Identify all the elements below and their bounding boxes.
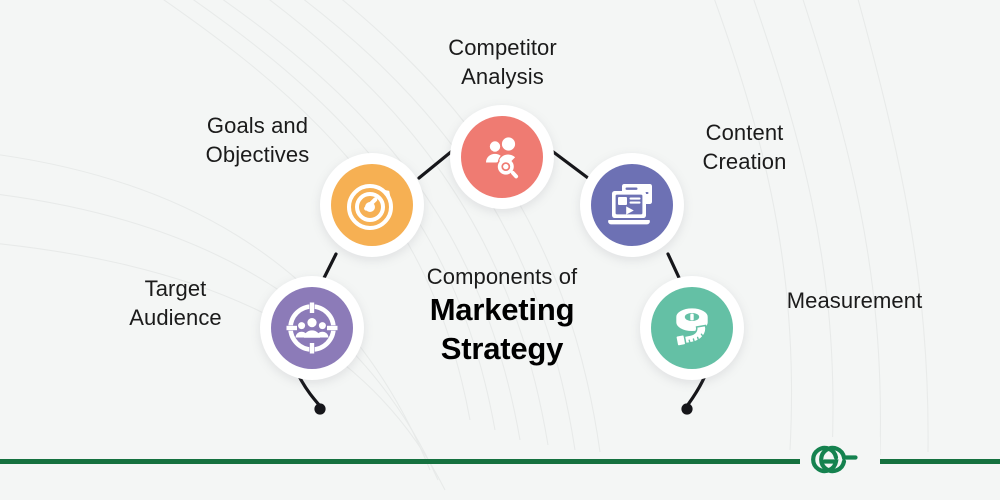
label-measurement: Measurement (742, 286, 967, 315)
competitor-analysis-disc (461, 116, 543, 198)
audience-tail-dot (314, 403, 325, 414)
target-dart-icon (346, 179, 398, 231)
label-goals-and-objectives: Goals and Objectives (145, 111, 370, 170)
measuring-tape-icon (666, 302, 718, 354)
measurement-tail-dot (681, 403, 692, 414)
infographic-canvas: Competitor Analysis Goals and Objectives… (0, 0, 1000, 500)
measurement-disc (651, 287, 733, 369)
center-title-eyebrow: Components of (380, 264, 624, 290)
connector-competitor-to-content (548, 148, 588, 178)
crosshair-people-icon (285, 301, 339, 355)
node-measurement[interactable] (640, 276, 744, 380)
center-title-line-2: Strategy (380, 331, 624, 368)
node-competitor-analysis[interactable] (450, 105, 554, 209)
connector-measurement-tail (687, 378, 704, 406)
people-magnifier-icon (477, 132, 527, 182)
label-competitor-analysis: Competitor Analysis (390, 33, 615, 92)
geeksforgeeks-logo-icon (804, 440, 876, 480)
geeksforgeeks-logo[interactable] (800, 437, 880, 483)
label-content-creation: Content Creation (632, 118, 857, 177)
goals-and-objectives-disc (331, 164, 413, 246)
connector-audience-tail (300, 378, 320, 406)
label-target-audience: Target Audience (63, 274, 288, 333)
center-title: Components of Marketing Strategy (380, 264, 624, 368)
laptop-video-icon (606, 179, 658, 231)
center-title-line-1: Marketing (380, 292, 624, 329)
